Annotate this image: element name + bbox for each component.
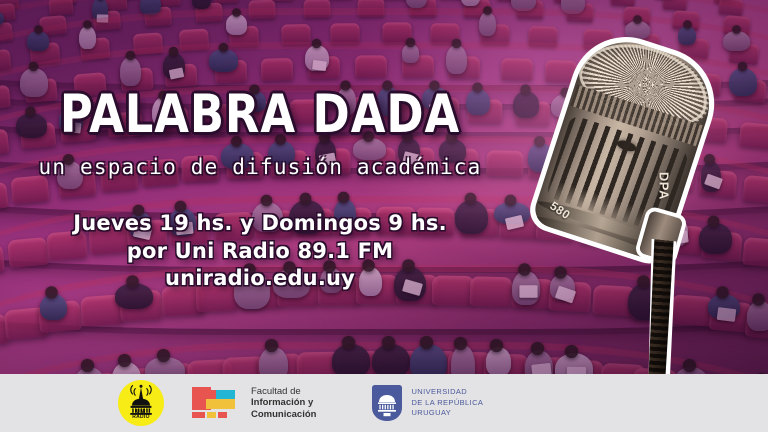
schedule-line-days: Jueves 19 hs. y Domingos 9 hs. bbox=[0, 210, 520, 238]
uniradio-logo: UNI RADIO bbox=[118, 380, 164, 426]
fic-wordmark: Facultad de Información y Comunicación bbox=[251, 386, 316, 420]
fic-wordmark-line2: Información y bbox=[251, 397, 316, 408]
poster-subtitle: un espacio de difusión académica bbox=[0, 155, 520, 179]
poster-canvas: DPA 580 Palabra Dada un espacio de difus… bbox=[0, 0, 768, 432]
udelar-wordmark-line1: UNIVERSIDAD bbox=[411, 387, 483, 398]
microphone-head: DPA 580 bbox=[531, 29, 722, 261]
microphone-brand-label: DPA bbox=[657, 172, 672, 200]
footer-logo-bar: UNI RADIO Facultad de Información y Comu… bbox=[0, 374, 768, 432]
poster-text-block: Palabra Dada un espacio de difusión acad… bbox=[0, 0, 520, 374]
uniradio-wordmark-line2: RADIO bbox=[132, 414, 150, 420]
fic-logo: Facultad de Información y Comunicación bbox=[192, 386, 316, 420]
poster-schedule-block: Jueves 19 hs. y Domingos 9 hs. por Uni R… bbox=[0, 210, 520, 293]
fic-blocks-icon bbox=[192, 386, 242, 420]
udelar-wordmark: UNIVERSIDAD DE LA REPÚBLICA URUGUAY bbox=[411, 387, 483, 420]
udelar-wordmark-line3: URUGUAY bbox=[411, 408, 483, 419]
poster-title: Palabra Dada bbox=[16, 88, 505, 141]
udelar-logo: UNIVERSIDAD DE LA REPÚBLICA URUGUAY bbox=[372, 385, 483, 421]
schedule-line-website: uniradio.edu.uy bbox=[0, 265, 520, 293]
uniradio-wordmark: UNI RADIO bbox=[118, 410, 164, 421]
udelar-shield-icon bbox=[372, 385, 402, 421]
fic-wordmark-line1: Facultad de bbox=[251, 386, 316, 397]
schedule-line-station: por Uni Radio 89.1 FM bbox=[0, 238, 520, 266]
fic-wordmark-line3: Comunicación bbox=[251, 409, 316, 420]
microphone-image: DPA 580 bbox=[492, 18, 768, 432]
udelar-wordmark-line2: DE LA REPÚBLICA bbox=[411, 398, 483, 409]
